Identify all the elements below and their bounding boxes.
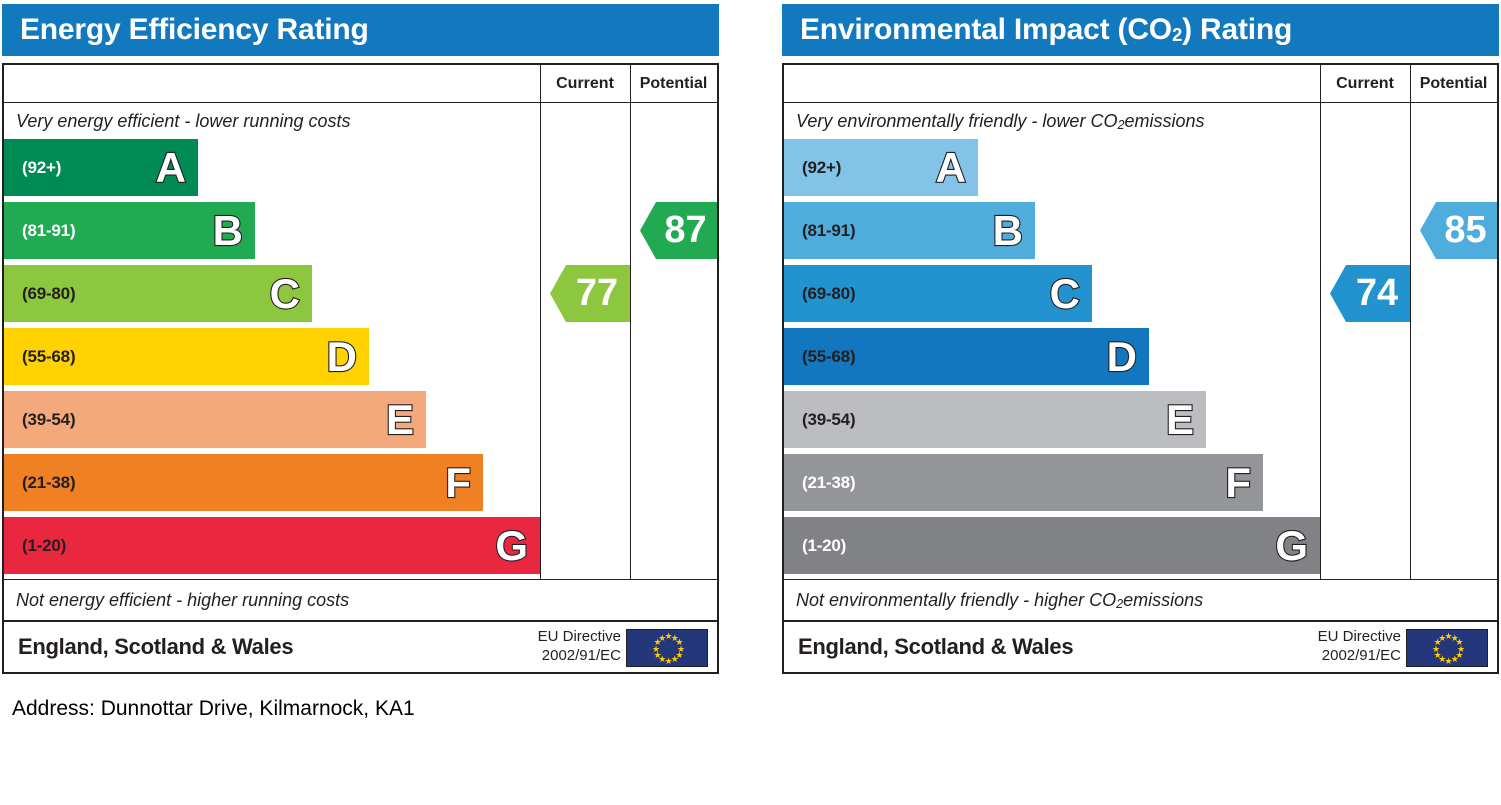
column-header-potential: Potential bbox=[630, 65, 717, 103]
band-f-range: (21-38) bbox=[22, 473, 75, 493]
environmental-impact-body: Current Potential Very environmentally f… bbox=[782, 63, 1499, 674]
column-separator-current bbox=[540, 65, 541, 580]
band-b-range: (81-91) bbox=[22, 221, 75, 241]
potential-rating-value: 85 bbox=[1444, 209, 1486, 252]
band-a-range: (92+) bbox=[802, 158, 841, 178]
band-g-letter: G bbox=[1275, 525, 1308, 567]
environmental-impact-title-suffix: ) Rating bbox=[1182, 13, 1292, 47]
footer: England, Scotland & Wales EU Directive 2… bbox=[4, 620, 717, 672]
co2-subscript: 2 bbox=[1117, 118, 1124, 132]
column-separator-potential bbox=[1410, 65, 1411, 580]
caption-bottom-prefix: Not environmentally friendly - higher CO bbox=[796, 590, 1116, 611]
band-a: (92+) A bbox=[784, 139, 978, 196]
eu-directive-line1: EU Directive bbox=[538, 628, 621, 647]
current-rating-value: 77 bbox=[576, 272, 618, 315]
column-separator-current bbox=[1320, 65, 1321, 580]
band-f-letter: F bbox=[1225, 462, 1251, 504]
band-f: (21-38) F bbox=[784, 454, 1263, 511]
column-header-current: Current bbox=[540, 65, 630, 103]
band-d-range: (55-68) bbox=[802, 347, 855, 367]
band-a-letter: A bbox=[156, 147, 186, 189]
epc-page: Energy Efficiency Rating Current Potenti… bbox=[0, 0, 1501, 805]
band-e-range: (39-54) bbox=[22, 410, 75, 430]
footer: England, Scotland & Wales EU Directive 2… bbox=[784, 620, 1497, 672]
band-g-letter: G bbox=[495, 525, 528, 567]
co2-subscript: 2 bbox=[1116, 597, 1123, 611]
band-d-letter: D bbox=[327, 336, 357, 378]
band-c-letter: C bbox=[1050, 273, 1080, 315]
potential-rating-value: 87 bbox=[664, 209, 706, 252]
band-c: (69-80) C bbox=[4, 265, 312, 322]
caption-bottom: Not energy efficient - higher running co… bbox=[4, 583, 540, 617]
band-d: (55-68) D bbox=[784, 328, 1149, 385]
band-f-range: (21-38) bbox=[802, 473, 855, 493]
energy-efficiency-body: Current Potential Very energy efficient … bbox=[2, 63, 719, 674]
band-e-letter: E bbox=[1166, 399, 1194, 441]
band-c-range: (69-80) bbox=[22, 284, 75, 304]
eu-star-icon: ★ bbox=[1438, 635, 1445, 642]
eu-star-icon: ★ bbox=[658, 635, 665, 642]
band-d-letter: D bbox=[1107, 336, 1137, 378]
caption-bottom-separator bbox=[784, 579, 1497, 580]
caption-bottom: Not environmentally friendly - higher CO… bbox=[784, 583, 1320, 617]
band-c-letter: C bbox=[270, 273, 300, 315]
band-d: (55-68) D bbox=[4, 328, 369, 385]
table-header-row: Current Potential bbox=[784, 65, 1497, 103]
footer-region-label: England, Scotland & Wales bbox=[784, 634, 1073, 660]
eu-directive-line1: EU Directive bbox=[1318, 628, 1401, 647]
potential-rating-arrow: 87 bbox=[640, 202, 717, 259]
footer-region-label: England, Scotland & Wales bbox=[4, 634, 293, 660]
band-e: (39-54) E bbox=[784, 391, 1206, 448]
band-g-range: (1-20) bbox=[22, 536, 66, 556]
eu-directive-line2: 2002/91/EC bbox=[1318, 647, 1401, 666]
band-b: (81-91) B bbox=[4, 202, 255, 259]
band-c-range: (69-80) bbox=[802, 284, 855, 304]
caption-bottom-suffix: emissions bbox=[1123, 590, 1203, 611]
potential-rating-arrow: 85 bbox=[1420, 202, 1497, 259]
current-rating-value: 74 bbox=[1356, 272, 1398, 315]
band-a-range: (92+) bbox=[22, 158, 61, 178]
caption-top: Very environmentally friendly - lower CO… bbox=[784, 104, 1320, 138]
band-b-letter: B bbox=[993, 210, 1023, 252]
table-header-row: Current Potential bbox=[4, 65, 717, 103]
band-a-letter: A bbox=[936, 147, 966, 189]
caption-top-suffix: emissions bbox=[1124, 111, 1204, 132]
current-rating-arrow: 74 bbox=[1330, 265, 1410, 322]
band-b-letter: B bbox=[213, 210, 243, 252]
environmental-impact-chart: Environmental Impact (CO2) Rating Curren… bbox=[780, 0, 1501, 676]
environmental-impact-title-prefix: Environmental Impact (CO bbox=[800, 13, 1172, 47]
eu-flag-icon: ★★★★★★★★★★★★ bbox=[626, 629, 708, 667]
column-separator-potential bbox=[630, 65, 631, 580]
energy-efficiency-title: Energy Efficiency Rating bbox=[2, 4, 719, 56]
band-b: (81-91) B bbox=[784, 202, 1035, 259]
eu-directive-text: EU Directive 2002/91/EC bbox=[1318, 628, 1401, 666]
band-f-letter: F bbox=[445, 462, 471, 504]
band-c: (69-80) C bbox=[784, 265, 1092, 322]
caption-top: Very energy efficient - lower running co… bbox=[4, 104, 540, 138]
current-rating-arrow: 77 bbox=[550, 265, 630, 322]
band-d-range: (55-68) bbox=[22, 347, 75, 367]
band-g: (1-20) G bbox=[4, 517, 540, 574]
energy-efficiency-chart: Energy Efficiency Rating Current Potenti… bbox=[0, 0, 721, 676]
co2-subscript: 2 bbox=[1172, 24, 1182, 46]
column-header-potential: Potential bbox=[1410, 65, 1497, 103]
band-b-range: (81-91) bbox=[802, 221, 855, 241]
band-f: (21-38) F bbox=[4, 454, 483, 511]
eu-directive-text: EU Directive 2002/91/EC bbox=[538, 628, 621, 666]
band-e: (39-54) E bbox=[4, 391, 426, 448]
eu-flag-icon: ★★★★★★★★★★★★ bbox=[1406, 629, 1488, 667]
energy-efficiency-title-text: Energy Efficiency Rating bbox=[20, 13, 369, 47]
column-header-current: Current bbox=[1320, 65, 1410, 103]
band-e-letter: E bbox=[386, 399, 414, 441]
band-e-range: (39-54) bbox=[802, 410, 855, 430]
environmental-impact-title: Environmental Impact (CO2) Rating bbox=[782, 4, 1499, 56]
caption-top-prefix: Very environmentally friendly - lower CO bbox=[796, 111, 1117, 132]
address-label: Address: Dunnottar Drive, Kilmarnock, KA… bbox=[12, 697, 415, 721]
eu-directive-line2: 2002/91/EC bbox=[538, 647, 621, 666]
band-a: (92+) A bbox=[4, 139, 198, 196]
band-g: (1-20) G bbox=[784, 517, 1320, 574]
caption-bottom-separator bbox=[4, 579, 717, 580]
band-g-range: (1-20) bbox=[802, 536, 846, 556]
